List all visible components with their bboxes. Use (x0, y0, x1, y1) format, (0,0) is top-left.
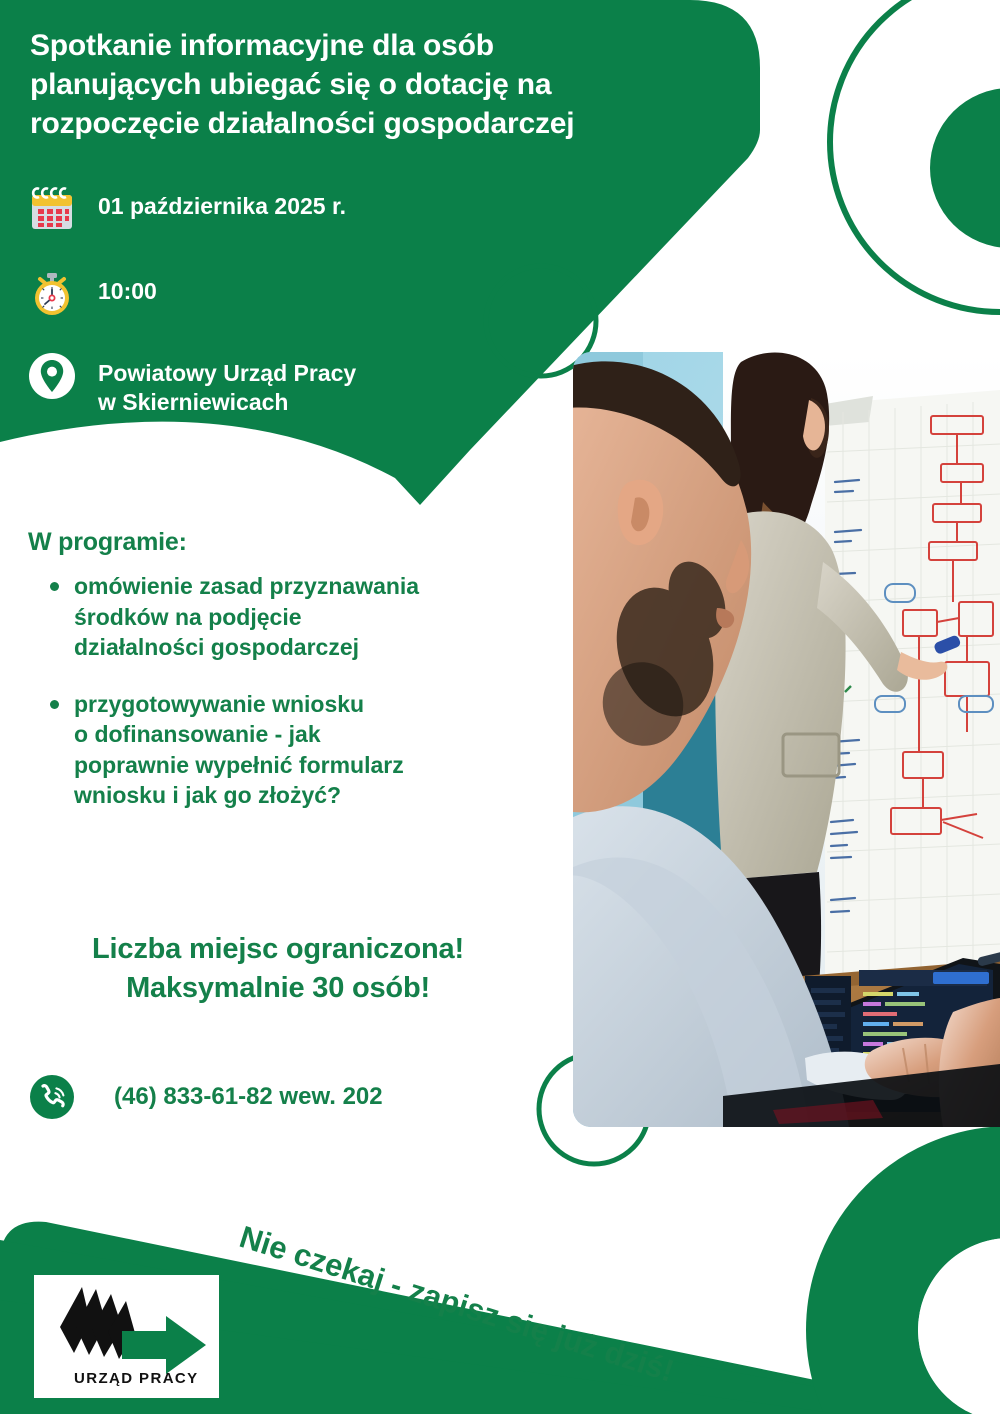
event-photo (573, 352, 1000, 1127)
event-location-label: Powiatowy Urząd Pracy w Skierniewicach (98, 352, 356, 418)
logo-text: URZĄD PRACY (74, 1370, 199, 1387)
urzad-pracy-logo: URZĄD PRACY (34, 1275, 219, 1398)
stopwatch-icon (28, 270, 76, 318)
program-heading: W programie: (28, 528, 548, 557)
contact-phone-row[interactable]: (46) 833-61-82 wew. 202 (28, 1073, 383, 1121)
poster-root: Spotkanie informacyjne dla osób planując… (0, 0, 1000, 1414)
event-date-row: 01 października 2025 r. (28, 185, 346, 233)
event-location-row: Powiatowy Urząd Pracy w Skierniewicach (28, 352, 356, 418)
phone-icon (28, 1073, 76, 1121)
program-item: omówienie zasad przyznawania środków na … (28, 571, 548, 663)
decor-dot-topright (930, 88, 1000, 248)
event-time-label: 10:00 (98, 270, 157, 306)
program-item: przygotowywanie wniosku o dofinansowanie… (28, 689, 548, 811)
page-title: Spotkanie informacyjne dla osób planując… (30, 26, 670, 143)
event-time-row: 10:00 (28, 270, 157, 318)
calendar-icon (28, 185, 76, 233)
event-date-label: 01 października 2025 r. (98, 185, 346, 221)
program-section: W programie: omówienie zasad przyznawani… (28, 528, 548, 837)
seats-limit-notice: Liczba miejsc ograniczona! Maksymalnie 3… (28, 930, 528, 1007)
location-pin-icon (28, 352, 76, 400)
program-list: omówienie zasad przyznawania środków na … (28, 571, 548, 811)
contact-phone-label[interactable]: (46) 833-61-82 wew. 202 (114, 1083, 383, 1111)
